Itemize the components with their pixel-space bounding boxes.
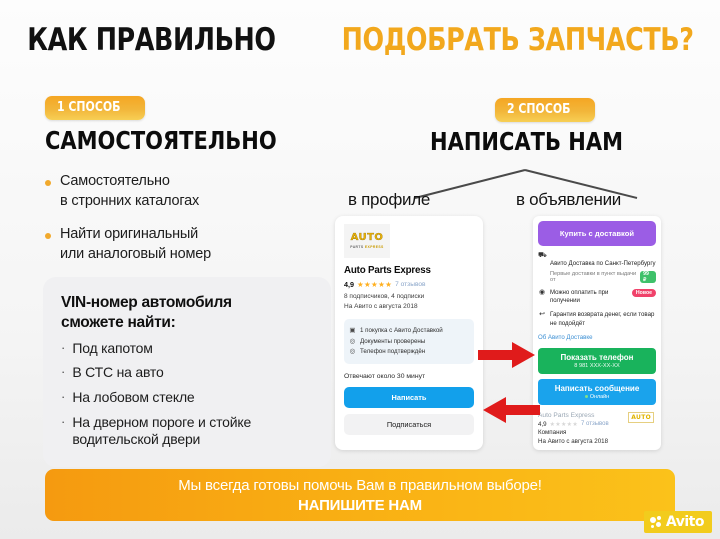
method-two-badge: 2 СПОСОБ	[495, 98, 595, 122]
bullet-dash-icon: ·	[61, 364, 65, 380]
method-one-bullet-list: Самостоятельно в стронних каталогах Найт…	[45, 172, 345, 264]
price-chip: 99 ₽	[640, 271, 656, 283]
show-phone-label: Показать телефон	[538, 353, 656, 362]
list-item-label: Авито Доставка по Санкт-Петербургу	[550, 260, 656, 267]
bullet-dash-icon: ·	[61, 414, 65, 430]
list-item: ·На дверном пороге и стойке водительской…	[61, 414, 314, 449]
sub-label-listing: в объявлении	[516, 190, 621, 210]
vin-info-card: VIN-номер автомобиля сможете найти: ·Под…	[43, 277, 331, 467]
online-status: Онлайн	[538, 394, 656, 400]
online-dot-icon	[585, 395, 588, 398]
buy-with-delivery-button[interactable]: Купить с доставкой	[538, 221, 656, 246]
method-two-heading: НАПИСАТЬ НАМ	[400, 129, 690, 155]
about-delivery-link[interactable]: Об Авито Доставке	[538, 334, 656, 341]
method-one-heading-label: САМОСТОЯТЕЛЬНО	[45, 128, 277, 154]
page-title-accent: ПОДОБРАТЬ ЗАПЧАСТЬ?	[342, 22, 694, 58]
check-circle-icon: ◎	[349, 338, 356, 345]
subscribe-button[interactable]: Подписаться	[344, 414, 474, 435]
seller-logo-small: AUTO	[628, 412, 654, 423]
avito-listing-card: Купить с доставкой ⛟ Авито Доставка по С…	[533, 216, 661, 450]
list-item: ◎ Документы проверены	[349, 338, 469, 345]
profile-rating-row: 4,9 ★★★★★ 7 отзывов	[344, 280, 474, 289]
bullet-dash-icon: ·	[61, 340, 65, 356]
page-title: КАК ПРАВИЛЬНО ПОДОБРАТЬ ЗАПЧАСТЬ?	[0, 22, 720, 58]
list-item-label: Гарантия возврата денег, если товар не п…	[550, 311, 656, 327]
list-item: Самостоятельно в стронних каталогах	[45, 172, 345, 211]
delivery-price-text: Первые доставки в пункт выдачи от	[550, 271, 637, 283]
online-status-label: Онлайн	[590, 394, 609, 400]
answer-time-note: Отвечают около 30 минут	[344, 373, 474, 380]
seller-since: На Авито с августа 2018	[538, 437, 656, 446]
avito-dots-icon	[650, 516, 663, 529]
list-item: ↩ Гарантия возврата денег, если товар не…	[538, 311, 656, 327]
list-item: ⛟ Авито Доставка по Санкт-Петербургу Пер…	[538, 252, 656, 283]
seller-logo: AUTO PARTS EXPRESS	[344, 224, 390, 258]
list-item: ·На лобовом стекле	[61, 389, 314, 407]
list-item-label: На лобовом стекле	[72, 389, 194, 407]
show-phone-button[interactable]: Показать телефон 8 981 ХХХ-ХХ-ХХ	[538, 348, 656, 374]
profile-followers: 8 подписчиков, 4 подписки	[344, 292, 474, 302]
profile-name: Auto Parts Express	[344, 265, 474, 276]
profile-since: На Авито с августа 2018	[344, 302, 474, 312]
list-item: ◉ Можно оплатить при получении Новое	[538, 289, 656, 305]
seller-logo-sub: PARTS EXPRESS	[350, 245, 383, 249]
list-item-label: Найти оригинальный или аналоговый номер	[60, 225, 211, 264]
vin-card-title: VIN-номер автомобиля сможете найти:	[61, 293, 314, 333]
list-item-label: В СТС на авто	[72, 364, 163, 382]
profile-badge-list: ▣ 1 покупка с Авито Доставкой ◎ Документ…	[344, 319, 474, 364]
delivery-box-icon: ▣	[349, 327, 356, 334]
sub-label-profile: в профиле	[348, 190, 430, 210]
footer-line-2: НАПИШИТЕ НАМ	[298, 497, 422, 514]
method-two-badge-label: 2 СПОСОБ	[507, 102, 570, 117]
avito-watermark: Avito	[644, 511, 712, 533]
stars-icon: ★★★★★	[357, 280, 392, 289]
arrow-right-icon	[478, 341, 536, 369]
truck-icon: ⛟	[538, 252, 546, 261]
seller-type: Компания	[538, 428, 656, 437]
footer-banner: Мы всегда готовы помочь Вам в правильном…	[45, 469, 675, 521]
return-arrow-icon: ↩	[538, 311, 546, 320]
list-item-label: На дверном пороге и стойке водительской …	[72, 414, 251, 449]
method-one-column: 1 СПОСОБ САМОСТОЯТЕЛЬНО Самостоятельно в…	[45, 96, 345, 278]
infographic-page: КАК ПРАВИЛЬНО ПОДОБРАТЬ ЗАПЧАСТЬ? 1 СПОС…	[0, 0, 720, 539]
list-item: ·Под капотом	[61, 340, 314, 358]
wallet-icon: ◉	[538, 289, 546, 298]
list-item-label: Телефон подтверждён	[360, 348, 425, 355]
list-item-label: Документы проверены	[360, 338, 425, 345]
page-title-dark: КАК ПРАВИЛЬНО	[27, 22, 275, 58]
bullet-dot-icon	[45, 233, 51, 239]
write-message-label: Написать сообщение	[538, 384, 656, 393]
footer-line-1: Мы всегда готовы помочь Вам в правильном…	[178, 477, 542, 494]
list-item-label: Можно оплатить при получении	[550, 289, 628, 305]
method-two-heading-label: НАПИСАТЬ НАМ	[430, 129, 623, 155]
rating-value: 4,9	[344, 280, 354, 289]
write-button[interactable]: Написать	[344, 387, 474, 408]
seller-logo-main: AUTO	[351, 233, 384, 243]
method-one-badge: 1 СПОСОБ	[45, 96, 145, 120]
avito-watermark-text: Avito	[666, 514, 704, 530]
bullet-dash-icon: ·	[61, 389, 65, 405]
avito-profile-card: AUTO PARTS EXPRESS Auto Parts Express 4,…	[335, 216, 483, 450]
list-item-label: Под капотом	[72, 340, 152, 358]
list-item: ◎ Телефон подтверждён	[349, 348, 469, 355]
seller-logo-sub-a: PARTS	[350, 245, 365, 249]
stars-icon: ★★★★★	[550, 421, 578, 428]
method-one-heading: САМОСТОЯТЕЛЬНО	[45, 128, 345, 154]
method-two-column-header: 2 СПОСОБ НАПИСАТЬ НАМ	[400, 98, 690, 155]
reviews-link[interactable]: 7 отзывов	[581, 421, 609, 427]
list-item-label: 1 покупка с Авито Доставкой	[360, 327, 443, 334]
listing-seller-block: AUTO Auto Parts Express 4,9 ★★★★★ 7 отзы…	[538, 412, 656, 450]
list-item-label: Самостоятельно в стронних каталогах	[60, 172, 199, 211]
phone-number: 8 981 ХХХ-ХХ-ХХ	[538, 363, 656, 369]
write-message-button[interactable]: Написать сообщение Онлайн	[538, 379, 656, 405]
seller-logo-sub-b: EXPRESS	[365, 245, 384, 249]
list-item: ·В СТС на авто	[61, 364, 314, 382]
check-circle-icon: ◎	[349, 348, 356, 355]
list-item: ▣ 1 покупка с Авито Доставкой	[349, 327, 469, 334]
arrow-left-icon	[482, 396, 540, 424]
reviews-link[interactable]: 7 отзывов	[395, 281, 425, 288]
method-one-badge-label: 1 СПОСОБ	[57, 100, 120, 115]
delivery-price-note: Первые доставки в пункт выдачи от 99 ₽	[550, 271, 656, 283]
bullet-dot-icon	[45, 180, 51, 186]
list-item: Найти оригинальный или аналоговый номер	[45, 225, 345, 264]
new-chip: Новое	[632, 289, 656, 297]
